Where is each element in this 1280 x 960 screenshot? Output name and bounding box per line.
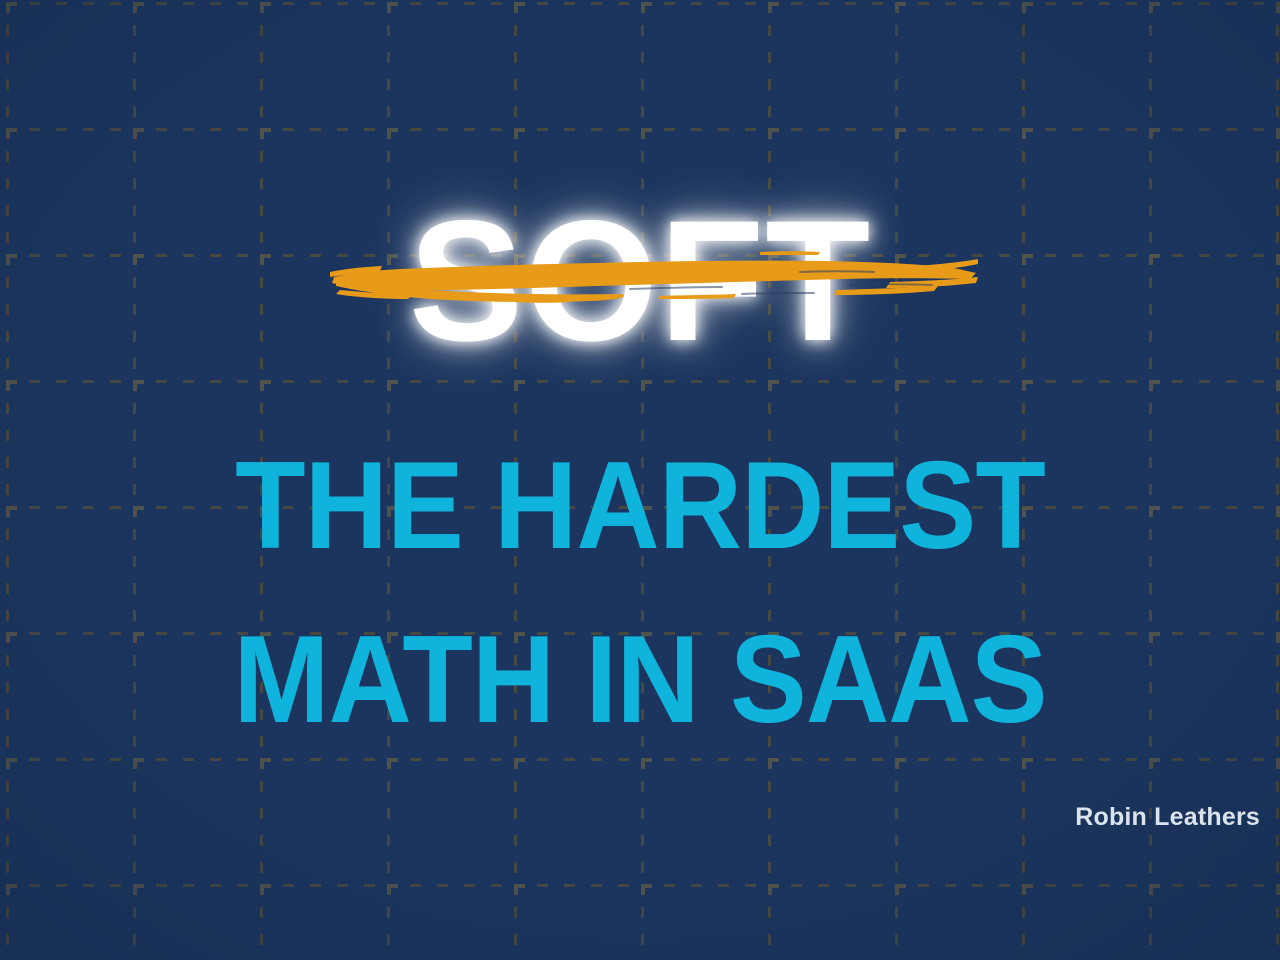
headline: THE HARDEST MATH IN SAAS	[0, 432, 1280, 754]
struck-word-text: SOFT	[0, 186, 1280, 376]
presenter-name: Robin Leathers	[1075, 802, 1260, 832]
headline-line-1: THE HARDEST	[45, 432, 1235, 580]
struck-word-block: SOFT	[0, 186, 1280, 376]
headline-line-2: MATH IN SAAS	[45, 606, 1235, 754]
slide-content: SOFT	[0, 0, 1280, 960]
title-slide: SOFT	[0, 0, 1280, 960]
